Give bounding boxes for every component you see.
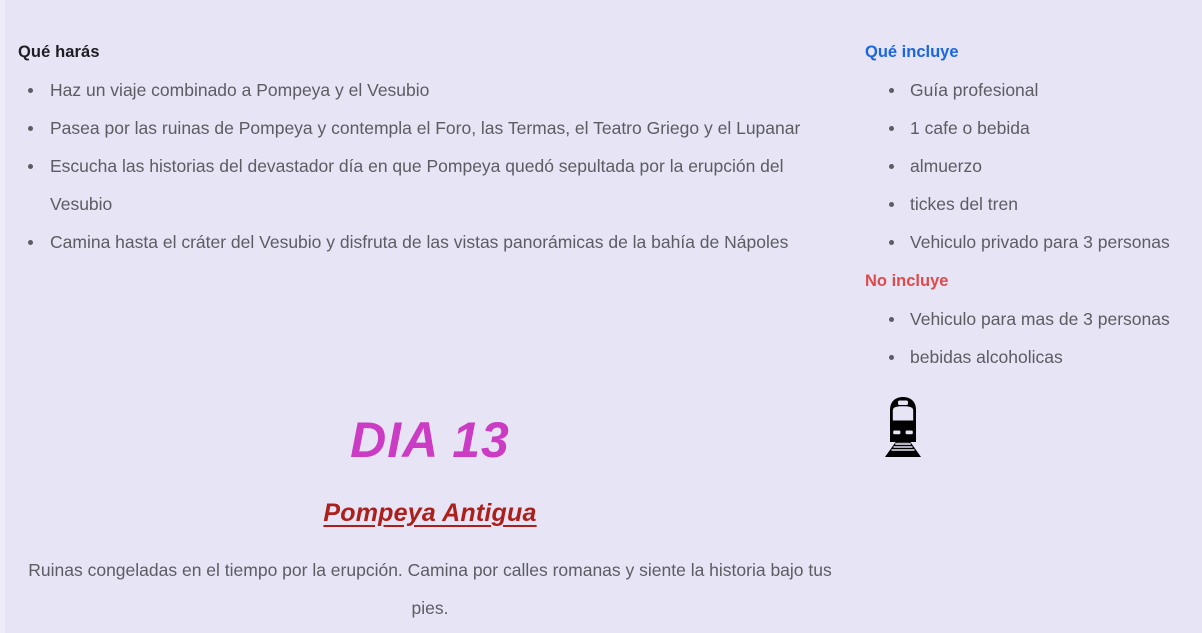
- day-subtitle: Pompeya Antigua: [0, 499, 860, 528]
- list-item: tickes del tren: [865, 185, 1188, 223]
- list-item: bebidas alcoholicas: [865, 338, 1188, 376]
- excludes-list: Vehiculo para mas de 3 personas bebidas …: [865, 300, 1188, 376]
- list-item: Vehiculo para mas de 3 personas: [865, 300, 1188, 338]
- includes-heading: Qué incluye: [865, 43, 1188, 62]
- list-item: 1 cafe o bebida: [865, 109, 1188, 147]
- list-item: Haz un viaje combinado a Pompeya y el Ve…: [18, 71, 833, 109]
- excludes-heading: No incluye: [865, 272, 1188, 291]
- list-item: Escucha las historias del devastador día…: [18, 147, 833, 223]
- page-canvas: Qué harás Haz un viaje combinado a Pompe…: [0, 0, 1202, 633]
- list-item: Vehiculo privado para 3 personas: [865, 223, 1188, 261]
- day-title: DIA 13: [0, 415, 860, 465]
- day-title-block: DIA 13 Pompeya Antigua Ruinas congeladas…: [0, 415, 860, 627]
- train-icon-container: [865, 396, 1188, 458]
- includes-list: Guía profesional 1 cafe o bebida almuerz…: [865, 71, 1188, 261]
- list-item: Pasea por las ruinas de Pompeya y contem…: [18, 109, 833, 147]
- left-edge-strip: [0, 0, 5, 633]
- what-you-will-do-list: Haz un viaje combinado a Pompeya y el Ve…: [18, 71, 833, 261]
- train-icon: [879, 396, 927, 458]
- what-you-will-do-heading: Qué harás: [18, 43, 833, 62]
- list-item: Camina hasta el cráter del Vesubio y dis…: [18, 223, 833, 261]
- inclusions-section: Qué incluye Guía profesional 1 cafe o be…: [855, 0, 1202, 633]
- day-description: Ruinas congeladas en el tiempo por la er…: [0, 551, 860, 627]
- list-item: Guía profesional: [865, 71, 1188, 109]
- list-item: almuerzo: [865, 147, 1188, 185]
